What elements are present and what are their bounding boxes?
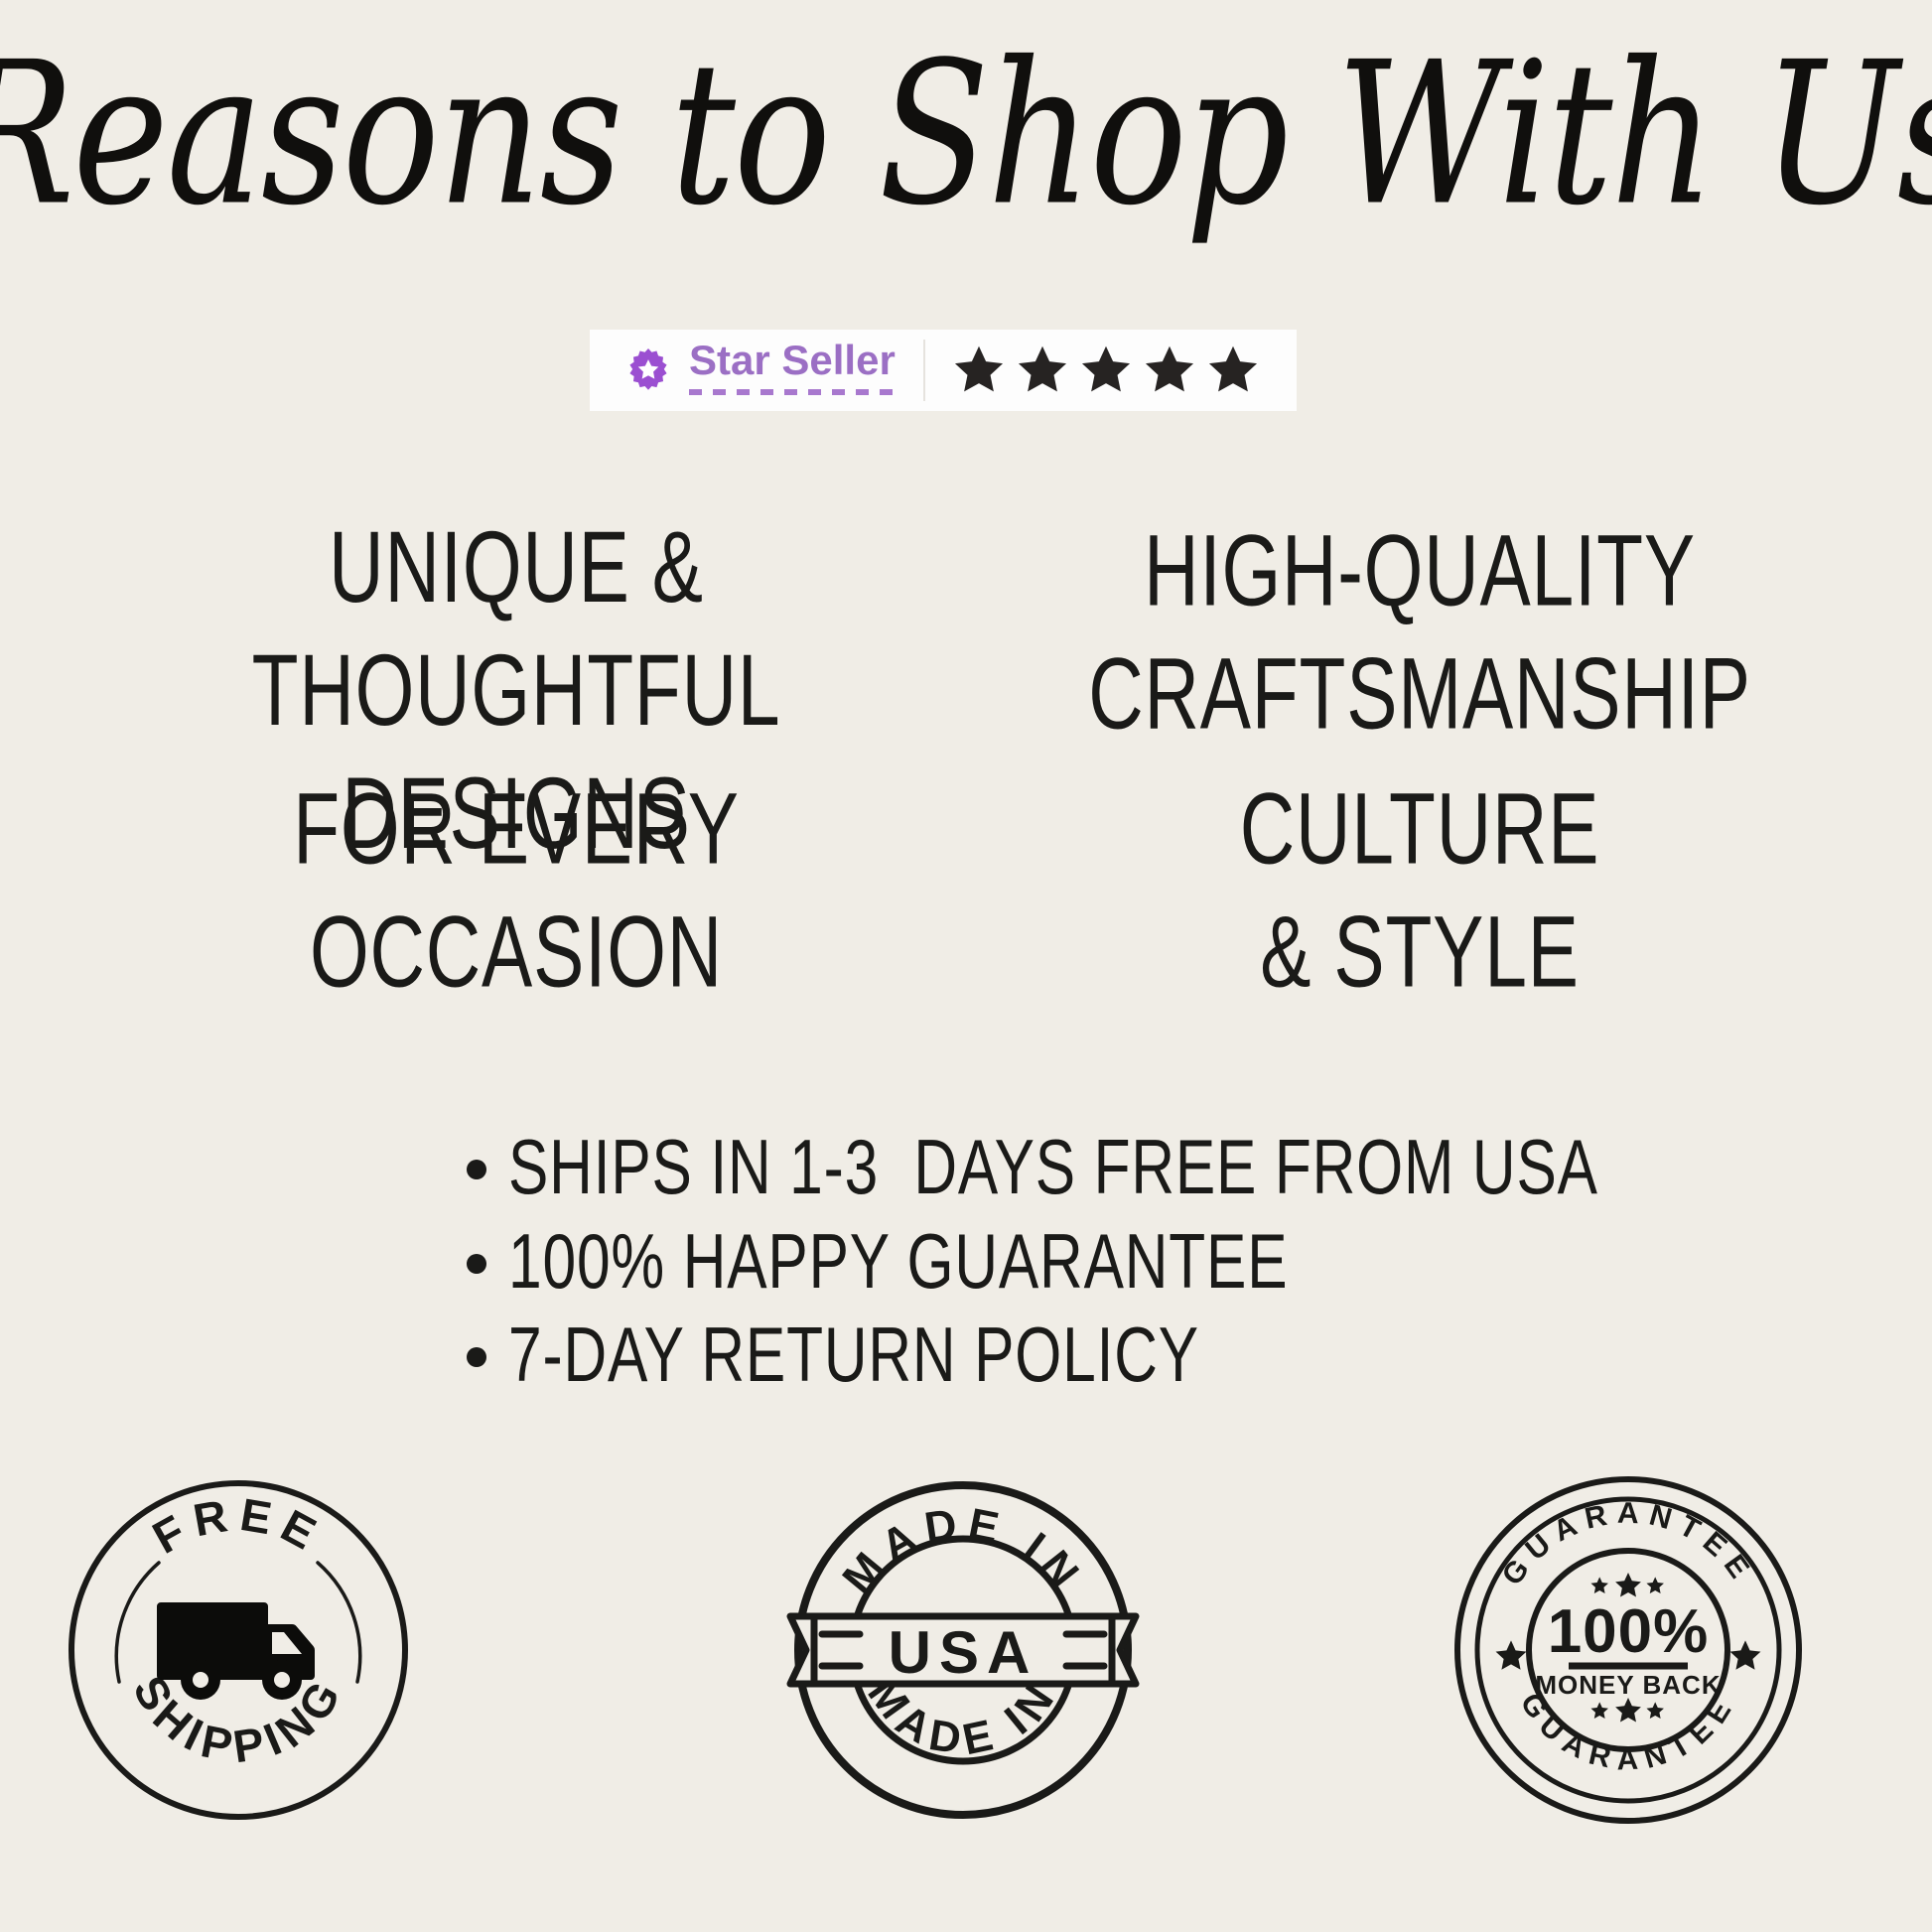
star-seller-label: Star Seller	[689, 340, 896, 381]
star-seller-text-wrap: Star Seller	[689, 340, 896, 401]
badge-money-back-guarantee: GUARANTEE GUARANTEE 100%	[1449, 1471, 1807, 1829]
trust-badge-row: FREE SHIPPING MADE IN	[0, 1461, 1932, 1859]
star-icon	[1015, 343, 1070, 398]
bullet-dot-icon	[467, 1160, 486, 1179]
feature-line-1: UNIQUE &	[329, 511, 704, 623]
feature-line-2: CRAFTSMANSHIP	[1023, 632, 1817, 756]
badge-banner-text: USA	[889, 1619, 1038, 1686]
bullet-text: 7-DAY RETURN POLICY	[508, 1312, 1199, 1399]
badge-bottom-text: SHIPPING	[123, 1667, 353, 1773]
bullet-text: SHIPS IN 1-3 DAYS FREE FROM USA	[508, 1125, 1598, 1211]
feature-high-quality: HIGH-QUALITY CRAFTSMANSHIP	[1023, 509, 1817, 756]
badge-free-shipping: FREE SHIPPING	[60, 1471, 417, 1829]
feature-culture-style: CULTURE & STYLE	[1023, 767, 1817, 1014]
badge-center-text: 100%	[1548, 1597, 1710, 1666]
list-item: SHIPS IN 1-3 DAYS FREE FROM USA	[467, 1128, 1757, 1208]
badge-sub-text: MONEY BACK	[1535, 1670, 1721, 1700]
svg-text:SHIPPING: SHIPPING	[123, 1667, 353, 1773]
ribbon-banner: USA	[790, 1616, 1136, 1686]
feature-line-2: & STYLE	[1023, 891, 1817, 1014]
delivery-truck-icon	[157, 1602, 315, 1700]
star-icon	[1142, 343, 1197, 398]
star-seller-dashed-underline	[689, 389, 896, 395]
page-title: Reasons to Shop With Us	[0, 36, 1932, 232]
star-icon	[1590, 1573, 1664, 1596]
star-icon	[1590, 1698, 1664, 1722]
star-rating	[925, 330, 1287, 411]
star-icon	[1205, 343, 1261, 398]
bullet-text: 100% HAPPY GUARANTEE	[508, 1218, 1288, 1305]
title-block: Reasons to Shop With Us	[0, 30, 1932, 238]
benefits-list: SHIPS IN 1-3 DAYS FREE FROM USA 100% HAP…	[467, 1128, 1757, 1410]
feature-line-1: FOR EVERY	[293, 772, 740, 885]
star-icon	[1078, 343, 1134, 398]
star-seller-left: Star Seller	[590, 330, 923, 411]
star-seller-badge: Star Seller	[590, 330, 1297, 411]
star-rosette-icon	[625, 347, 671, 393]
bullet-dot-icon	[467, 1347, 486, 1367]
badge-made-in-usa: MADE IN MADE IN USA	[784, 1471, 1142, 1829]
bullet-dot-icon	[467, 1254, 486, 1274]
list-item: 100% HAPPY GUARANTEE	[467, 1222, 1757, 1303]
feature-line-1: CULTURE	[1240, 772, 1600, 885]
list-item: 7-DAY RETURN POLICY	[467, 1315, 1757, 1396]
feature-line-1: HIGH-QUALITY	[1144, 514, 1696, 626]
feature-for-every-occasion: FOR EVERY OCCASION	[119, 767, 913, 1014]
feature-line-2: OCCASION	[119, 891, 913, 1014]
star-icon	[951, 343, 1007, 398]
